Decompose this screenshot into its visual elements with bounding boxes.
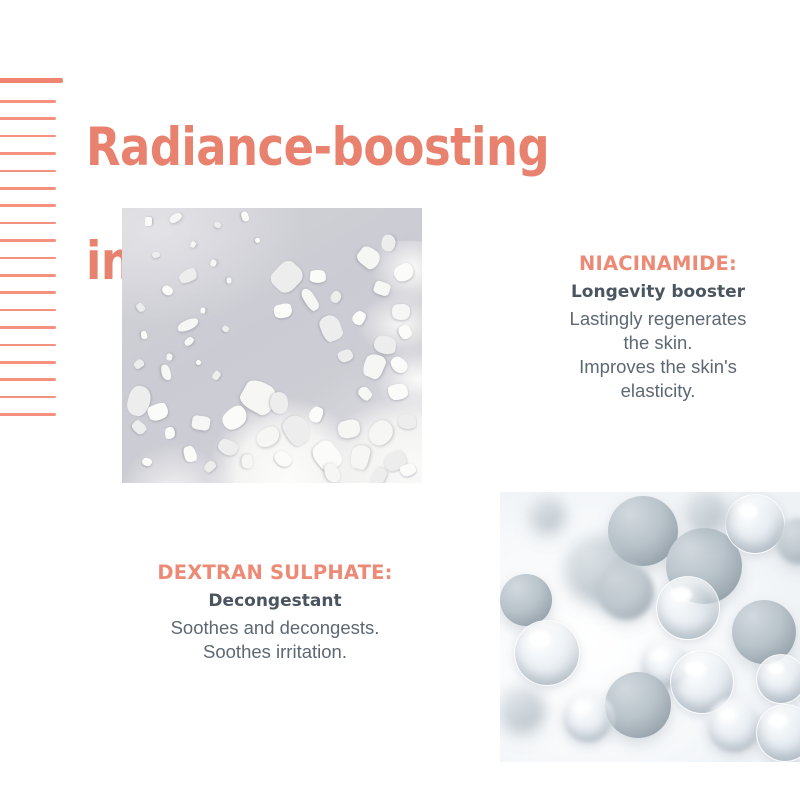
bubbles-photo <box>500 492 800 762</box>
decorative-line-thin <box>0 170 56 173</box>
grey-sphere <box>530 498 564 532</box>
ingredient-subtitle-niacinamide: Longevity booster <box>530 282 786 302</box>
decorative-line-thin <box>0 187 56 190</box>
grey-sphere <box>605 672 671 738</box>
powder-flake <box>145 217 152 226</box>
ingredient-description-dextran-sulphate: Soothes and decongests. Soothes irritati… <box>146 616 404 664</box>
decorative-line-thin <box>0 222 56 225</box>
glass-bubble <box>756 654 800 704</box>
ingredient-description-niacinamide: Lastingly regenerates the skin. Improves… <box>530 307 786 403</box>
decorative-line-thin <box>0 309 56 312</box>
decorative-line-thin <box>0 274 56 277</box>
powder-flake <box>398 414 417 430</box>
decorative-line-thin <box>0 344 56 347</box>
decorative-line-thick <box>0 78 63 83</box>
powder-flake <box>391 303 410 320</box>
decorative-line-thin <box>0 291 56 294</box>
glass-bubble <box>706 698 762 754</box>
ingredient-subtitle-dextran-sulphate: Decongestant <box>146 591 404 611</box>
decorative-line-stack <box>0 78 70 438</box>
decorative-line-thin <box>0 378 56 381</box>
ingredient-name-dextran-sulphate: DEXTRAN SULPHATE: <box>146 561 404 584</box>
grey-sphere <box>686 492 726 532</box>
powder-flake <box>226 277 232 284</box>
decorative-line-thin <box>0 100 56 103</box>
ingredient-block-dextran-sulphate: DEXTRAN SULPHATE: Decongestant Soothes a… <box>146 561 404 664</box>
decorative-line-thin <box>0 117 56 120</box>
decorative-line-thin <box>0 361 56 364</box>
grey-sphere <box>598 564 654 620</box>
decorative-line-thin <box>0 326 56 329</box>
decorative-line-thin <box>0 152 56 155</box>
grey-sphere <box>500 574 552 626</box>
decorative-line-thin <box>0 204 56 207</box>
decorative-line-thin <box>0 396 56 399</box>
glass-bubble <box>656 576 720 640</box>
powder-photo <box>122 208 422 483</box>
decorative-line-thin <box>0 257 56 260</box>
decorative-line-thin <box>0 413 56 416</box>
grey-sphere <box>500 688 544 732</box>
poster-canvas: Radiance-boosting ingredients NIACINAMID… <box>0 0 800 800</box>
ingredient-name-niacinamide: NIACINAMIDE: <box>530 252 786 275</box>
page-title-line-1: Radiance-boosting <box>86 119 688 176</box>
decorative-line-thin <box>0 135 56 138</box>
powder-flake <box>191 415 211 431</box>
glass-bubble <box>514 620 580 686</box>
glass-bubble <box>562 692 614 744</box>
decorative-line-thin <box>0 239 56 242</box>
ingredient-block-niacinamide: NIACINAMIDE: Longevity booster Lastingly… <box>530 252 786 403</box>
powder-flake <box>166 353 172 360</box>
powder-flake <box>241 454 254 469</box>
